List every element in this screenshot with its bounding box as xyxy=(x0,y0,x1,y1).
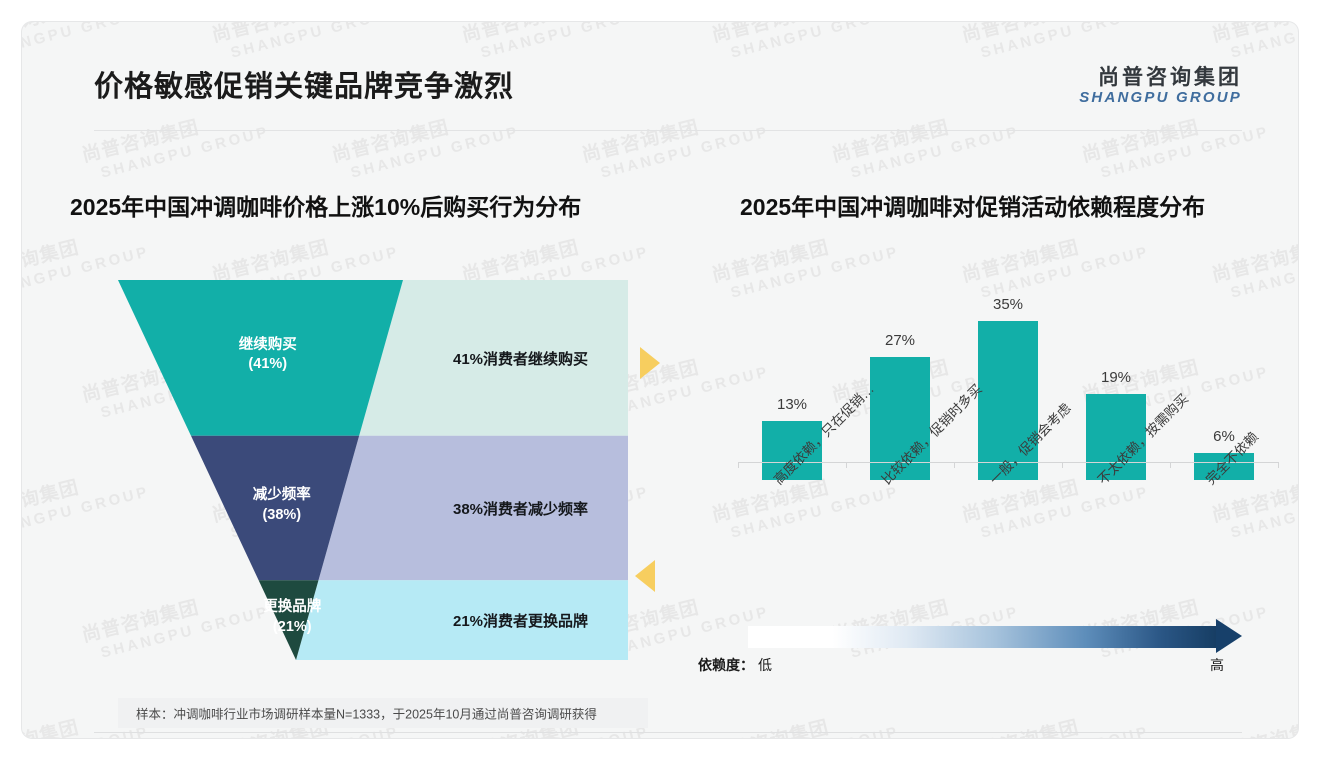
brand-logo: 尚普咨询集团 SHANGPU GROUP xyxy=(1079,66,1242,107)
bar-value-label: 13% xyxy=(754,396,830,413)
slide-header: 价格敏感促销关键品牌竞争激烈 尚普咨询集团 SHANGPU GROUP xyxy=(22,22,1298,130)
legend-low-label: 低 xyxy=(758,655,772,675)
funnel-stage-percent: (38%) xyxy=(222,506,342,526)
funnel-segment-label: 继续购买(41%) xyxy=(208,336,328,375)
right-chart-title: 2025年中国冲调咖啡对促销活动依赖程度分布 xyxy=(740,188,1205,222)
funnel-stage-description: 21%消费者更换品牌 xyxy=(453,610,588,631)
axis-tick xyxy=(1170,462,1171,468)
gradient-arrow-head-icon xyxy=(1216,619,1242,653)
axis-tick xyxy=(1062,462,1063,468)
legend-label: 依赖度： xyxy=(698,655,754,675)
play-triangle-left-icon xyxy=(635,560,655,592)
bar-value-label: 35% xyxy=(970,296,1046,313)
header-divider xyxy=(94,130,1242,131)
funnel-shape xyxy=(118,280,628,660)
slide-canvas: 尚普咨询集团SHANGPU GROUP尚普咨询集团SHANGPU GROUP尚普… xyxy=(22,22,1298,738)
sample-footnote-text: 样本：冲调咖啡行业市场调研样本量N=1333，于2025年10月通过尚普咨询调研… xyxy=(136,704,597,723)
funnel-chart: 继续购买(41%)41%消费者继续购买减少频率(38%)38%消费者减少频率更换… xyxy=(118,280,628,660)
funnel-stage-percent: (21%) xyxy=(232,618,352,638)
bar-value-label: 27% xyxy=(862,332,938,349)
dependency-gradient-legend: 依赖度： 低 高 xyxy=(698,620,1278,674)
funnel-stage-name: 更换品牌 xyxy=(232,598,352,618)
left-chart-title: 2025年中国冲调咖啡价格上涨10%后购买行为分布 xyxy=(70,188,581,222)
funnel-stage-name: 继续购买 xyxy=(208,336,328,356)
axis-tick xyxy=(846,462,847,468)
axis-tick xyxy=(738,462,739,468)
funnel-segment-label: 更换品牌(21%) xyxy=(232,598,352,637)
funnel-stage-description: 41%消费者继续购买 xyxy=(453,348,588,369)
axis-tick xyxy=(1278,462,1279,468)
legend-high-label: 高 xyxy=(1210,655,1224,675)
axis-tick xyxy=(954,462,955,468)
logo-english-text: SHANGPU GROUP xyxy=(1079,89,1242,107)
logo-chinese-text: 尚普咨询集团 xyxy=(1079,66,1242,89)
footer-divider xyxy=(94,732,1242,733)
funnel-segment-label: 减少频率(38%) xyxy=(222,486,342,525)
sample-footnote: 样本：冲调咖啡行业市场调研样本量N=1333，于2025年10月通过尚普咨询调研… xyxy=(118,698,648,728)
gradient-bar xyxy=(748,626,1218,648)
funnel-stage-description: 38%消费者减少频率 xyxy=(453,498,588,519)
bar-value-label: 19% xyxy=(1078,369,1154,386)
page-title: 价格敏感促销关键品牌竞争激烈 xyxy=(94,63,514,105)
funnel-stage-percent: (41%) xyxy=(208,355,328,375)
funnel-stage-name: 减少频率 xyxy=(222,486,342,506)
play-triangle-right-icon xyxy=(640,347,660,379)
